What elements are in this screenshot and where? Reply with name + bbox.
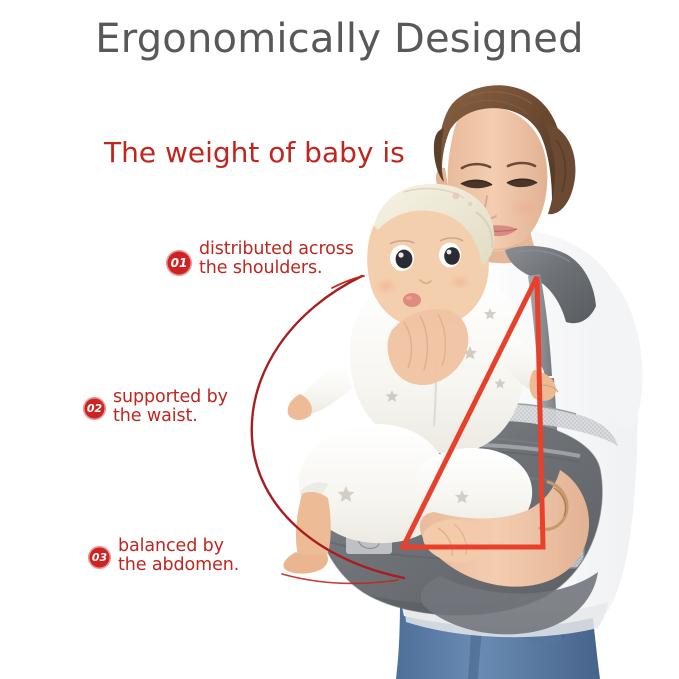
callout-badge-02: 02 (83, 397, 106, 420)
callout-badge-01: 01 (166, 250, 192, 276)
callout-01: 01 distributed across the shoulders. (166, 240, 354, 278)
weight-triangle (403, 277, 543, 547)
leader-line-03 (282, 574, 398, 583)
subtitle: The weight of baby is (104, 136, 405, 169)
support-arc (252, 276, 404, 578)
callout-text-01: distributed across the shoulders. (199, 240, 354, 278)
callout-text-03: balanced by the abdomen. (118, 537, 239, 575)
product-infographic: Ergonomically Designed The weight of bab… (0, 0, 679, 679)
ergonomic-diagram-overlay (0, 0, 679, 679)
page-title: Ergonomically Designed (0, 16, 679, 62)
callout-text-02: supported by the waist. (113, 388, 228, 426)
callout-02: 02 supported by the waist. (83, 388, 228, 426)
callout-badge-03: 03 (88, 546, 111, 569)
callout-03: 03 balanced by the abdomen. (88, 537, 239, 575)
